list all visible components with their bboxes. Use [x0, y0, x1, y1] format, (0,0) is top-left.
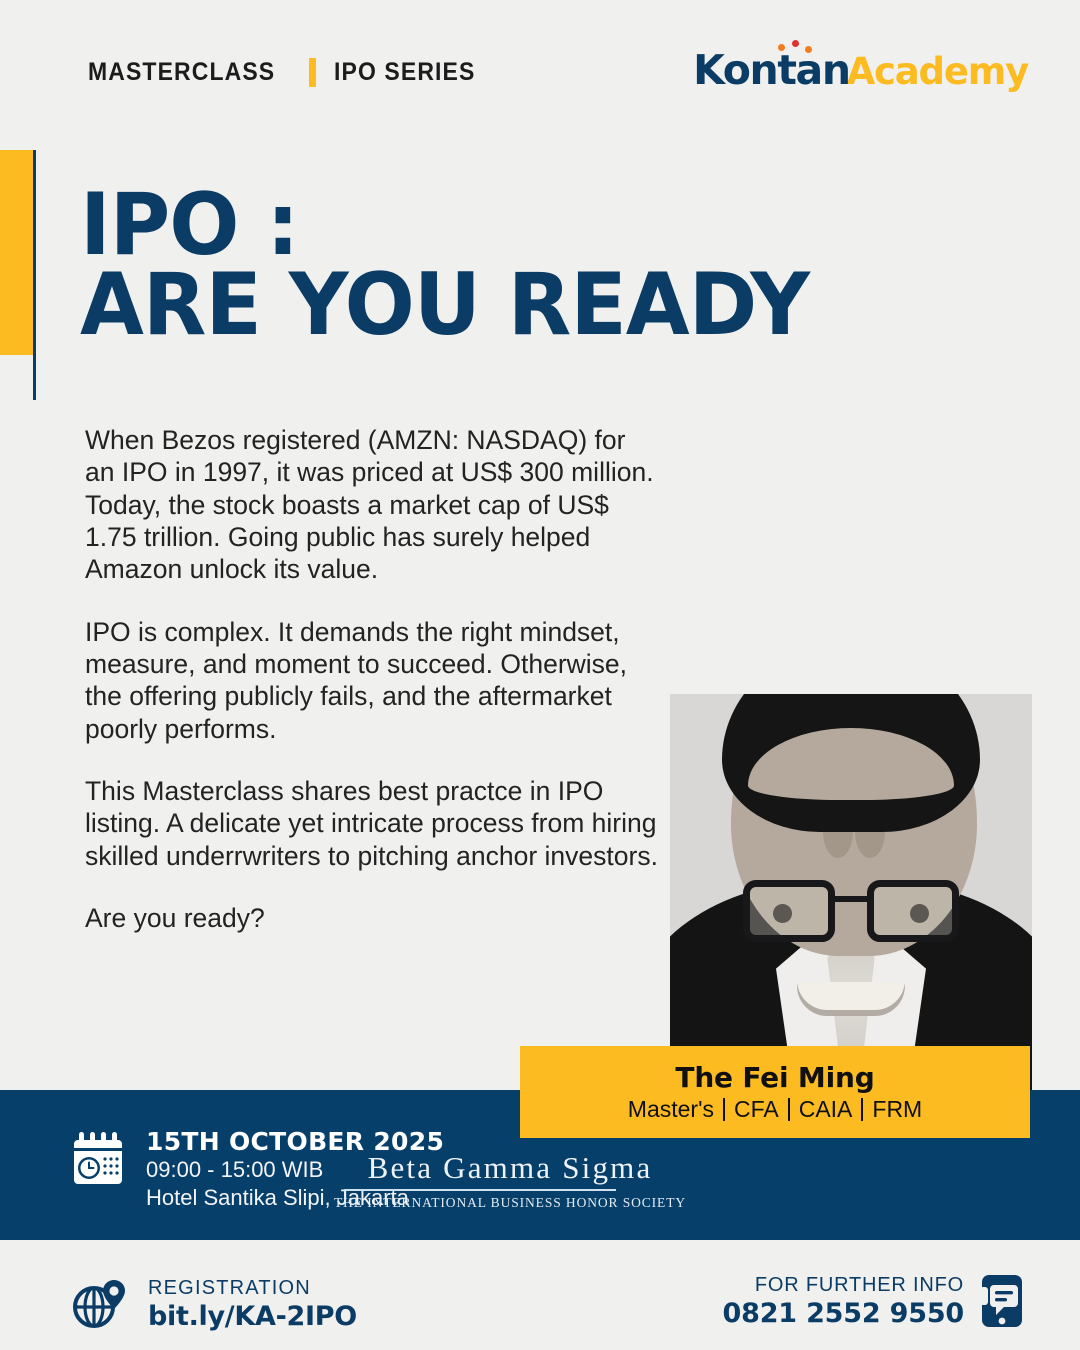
glasses-bridge [835, 896, 867, 902]
logo-kontan: Kontan [693, 46, 849, 94]
accent-bar-yellow [0, 150, 33, 355]
paragraph-2: IPO is complex. It demands the right min… [85, 616, 660, 745]
paragraph-1: When Bezos registered (AMZN: NASDAQ) for… [85, 424, 660, 586]
speaker-name-card: The Fei Ming Master's CFA CAIA FRM [520, 1046, 1030, 1138]
kicker-masterclass: MASTERCLASS [88, 58, 275, 87]
registration-link[interactable]: bit.ly/KA-2IPO [148, 1301, 357, 1332]
credential-separator-1 [723, 1098, 725, 1121]
portrait-smile [797, 982, 905, 1016]
bgs-rule [344, 1189, 616, 1191]
registration-text: REGISTRATION bit.ly/KA-2IPO [148, 1276, 357, 1332]
bgs-title: Beta Gamma Sigma [0, 1150, 1080, 1186]
page-title: IPO : ARE YOU READY [80, 186, 840, 346]
speaker-portrait [670, 694, 1032, 1094]
accent-line-navy [33, 150, 36, 400]
portrait-hair [722, 694, 980, 832]
poster-canvas: MASTERCLASS IPO SERIES Kontan Academy IP… [0, 0, 1080, 1350]
title-line-2: ARE YOU READY [80, 266, 809, 346]
poster-header: MASTERCLASS IPO SERIES Kontan Academy [0, 0, 1080, 130]
phone-chat-icon [980, 1273, 1024, 1329]
credential-separator-3 [861, 1098, 863, 1121]
contact-info-block[interactable]: FOR FURTHER INFO 0821 2552 9550 [723, 1272, 1024, 1330]
kicker-divider [309, 58, 316, 87]
credential-frm: FRM [872, 1096, 922, 1123]
credential-cfa: CFA [734, 1096, 779, 1123]
glasses-icon [743, 880, 959, 942]
beta-gamma-sigma-logo: Beta Gamma Sigma THE INTERNATIONAL BUSIN… [0, 1150, 1080, 1211]
registration-label: REGISTRATION [148, 1276, 357, 1301]
paragraph-4: Are you ready? [85, 902, 660, 934]
contact-phone-number[interactable]: 0821 2552 9550 [723, 1298, 964, 1330]
credential-masters: Master's [628, 1096, 714, 1123]
header-kicker: MASTERCLASS IPO SERIES [88, 58, 488, 87]
logo-academy: Academy [847, 50, 1028, 93]
speaker-name: The Fei Ming [675, 1061, 874, 1094]
paragraph-3: This Masterclass shares best practce in … [85, 775, 660, 872]
credential-caia: CAIA [799, 1096, 853, 1123]
contact-info-label: FOR FURTHER INFO [723, 1272, 964, 1298]
kicker-series: IPO SERIES [334, 58, 475, 87]
bgs-tagline: THE INTERNATIONAL BUSINESS HONOR SOCIETY [0, 1195, 1080, 1211]
kontan-academy-logo: Kontan Academy [693, 46, 1028, 94]
title-line-1: IPO : [80, 186, 809, 266]
registration-block[interactable]: REGISTRATION bit.ly/KA-2IPO [72, 1276, 357, 1332]
glasses-lens-left [743, 880, 835, 942]
credential-separator-2 [788, 1098, 790, 1121]
speaker-credentials: Master's CFA CAIA FRM [628, 1096, 922, 1123]
contact-info-text: FOR FURTHER INFO 0821 2552 9550 [723, 1272, 964, 1330]
body-copy: When Bezos registered (AMZN: NASDAQ) for… [85, 424, 660, 934]
globe-pin-icon [72, 1278, 128, 1330]
glasses-lens-right [867, 880, 959, 942]
